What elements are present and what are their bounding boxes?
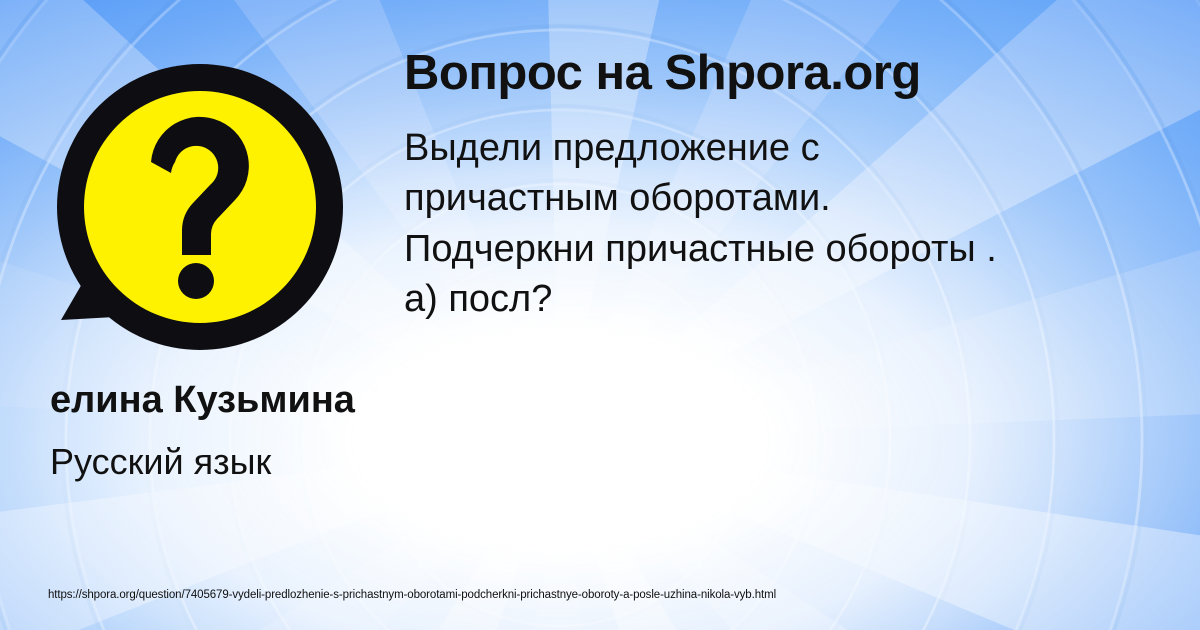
question-text-column: Вопрос на Shpora.org Выдели предложение …: [404, 46, 1144, 325]
question-mark-speech-bubble-icon: [55, 52, 355, 362]
source-url[interactable]: https://shpora.org/question/7405679-vyde…: [48, 589, 776, 601]
author-meta-column: елина Кузьмина Русский язык: [50, 378, 390, 484]
question-body-text: Выдели предложение с причастным оборотам…: [404, 123, 1029, 325]
question-share-card: Вопрос на Shpora.org Выдели предложение …: [0, 0, 1200, 630]
question-mark-dot: [178, 263, 214, 299]
question-bubble-container: [55, 52, 355, 362]
author-name: елина Кузьмина: [50, 378, 380, 422]
page-title: Вопрос на Shpora.org: [404, 46, 1144, 101]
subject-label: Русский язык: [50, 440, 390, 483]
